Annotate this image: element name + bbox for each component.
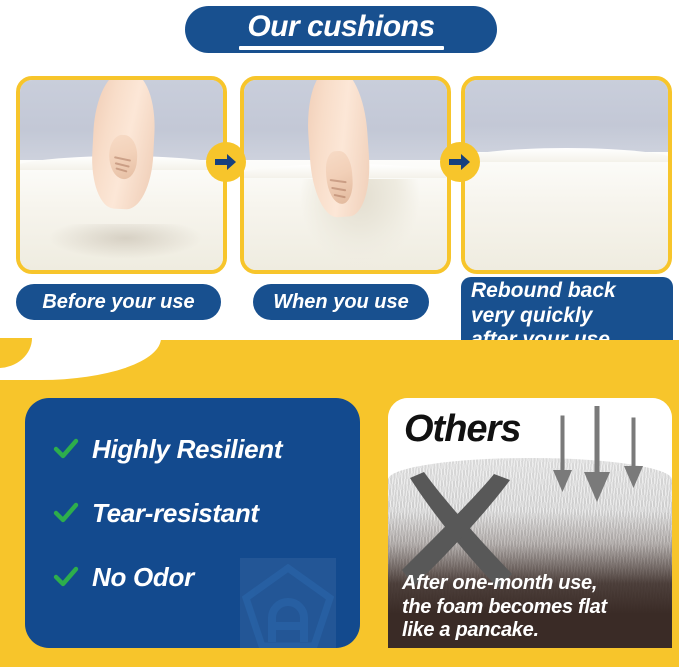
arrow-right-icon: [440, 142, 480, 182]
check-icon: [53, 564, 79, 590]
others-caption-line-1: After one-month use,: [402, 572, 664, 595]
others-caption: After one-month use, the foam becomes fl…: [402, 572, 664, 642]
page-title: Our cushions: [247, 12, 434, 42]
others-caption-line-3: like a pancake.: [402, 619, 664, 642]
title-underline: [239, 46, 444, 50]
photo-background-wall: [465, 80, 668, 156]
features-card: Highly Resilient Tear-resistant No Odor: [25, 398, 360, 648]
photo-after: [465, 80, 668, 270]
caption-during: When you use: [253, 284, 429, 320]
caption-before: Before your use: [16, 284, 221, 320]
knuckle-line: [330, 178, 347, 182]
knuckle-line: [116, 168, 128, 173]
infographic-root: Our cushions: [0, 0, 679, 667]
feature-item: Tear-resistant: [53, 496, 350, 530]
knuckle-line: [332, 186, 347, 191]
arrow-down-icon: [538, 406, 658, 516]
feature-item: Highly Resilient: [53, 432, 350, 466]
feature-label: Tear-resistant: [92, 498, 259, 529]
others-caption-line-2: the foam becomes flat: [402, 596, 664, 619]
caption-after-line-2: very quickly: [471, 304, 592, 329]
photo-before: [20, 80, 223, 270]
page-title-banner: Our cushions: [185, 6, 497, 53]
knuckle-line: [334, 193, 346, 197]
caption-after-line-1: Rebound back: [471, 279, 616, 304]
others-title: Others: [404, 410, 520, 448]
check-icon: [53, 436, 79, 462]
photo-fist: [108, 135, 138, 180]
demo-panel-during: [240, 76, 451, 274]
demo-panel-before: [16, 76, 227, 274]
photo-foam-edge: [461, 148, 672, 162]
others-card: Others After o: [388, 398, 672, 648]
demo-panel-after: [461, 76, 672, 274]
photo-fist: [324, 149, 354, 204]
feature-label: Highly Resilient: [92, 434, 282, 465]
photo-during: [244, 80, 447, 270]
arrow-right-icon: [206, 142, 246, 182]
photo-foam-surface: [465, 152, 668, 270]
feature-label: No Odor: [92, 562, 194, 593]
photo-shadow: [48, 224, 202, 258]
knuckle-line: [114, 156, 131, 162]
feature-item: No Odor: [53, 560, 350, 594]
check-icon: [53, 500, 79, 526]
features-list: Highly Resilient Tear-resistant No Odor: [53, 432, 350, 624]
